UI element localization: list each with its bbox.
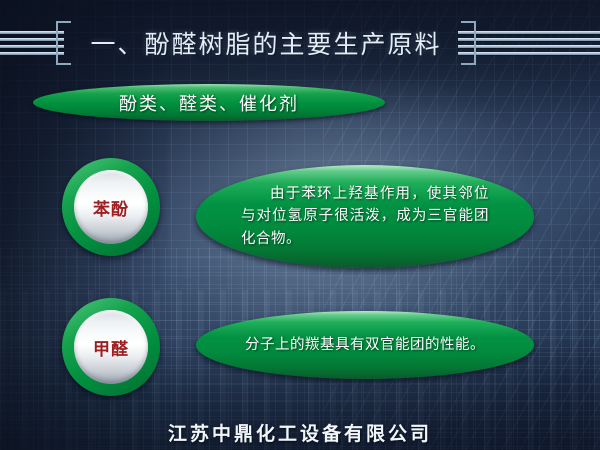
- node-formaldehyde-label: 甲醛: [93, 335, 129, 360]
- description-bubble-formaldehyde: 分子上的羰基具有双官能团的性能。: [196, 311, 534, 379]
- node-phenol-label: 苯酚: [93, 195, 129, 220]
- slide-title: 一、酚醛树脂的主要生产原料: [56, 20, 476, 66]
- node-phenol: 苯酚: [62, 158, 160, 256]
- slide-footer-text: 江苏中鼎化工设备有限公司: [168, 423, 432, 445]
- slide-footer: 江苏中鼎化工设备有限公司: [0, 419, 600, 446]
- description-bubble-phenol: 由于苯环上羟基作用，使其邻位与对位氢原子很活泼，成为三官能团化合物。: [196, 165, 534, 268]
- node-formaldehyde: 甲醛: [62, 298, 160, 396]
- node-formaldehyde-inner: 甲醛: [74, 310, 148, 384]
- node-phenol-inner: 苯酚: [74, 170, 148, 244]
- description-bubble-phenol-text: 由于苯环上羟基作用，使其邻位与对位氢原子很活泼，成为三官能团化合物。: [241, 183, 489, 250]
- description-bubble-formaldehyde-text: 分子上的羰基具有双官能团的性能。: [235, 334, 495, 356]
- slide-title-text: 一、酚醛树脂的主要生产原料: [71, 25, 461, 61]
- bracket-close-icon: [461, 21, 476, 65]
- presentation-slide: 一、酚醛树脂的主要生产原料 酚类、醛类、催化剂 苯酚 由于苯环上羟基作用，使其邻…: [0, 0, 600, 450]
- subtitle-banner-text: 酚类、醛类、催化剂: [119, 90, 299, 116]
- bracket-open-icon: [56, 21, 71, 65]
- subtitle-banner: 酚类、醛类、催化剂: [33, 84, 385, 121]
